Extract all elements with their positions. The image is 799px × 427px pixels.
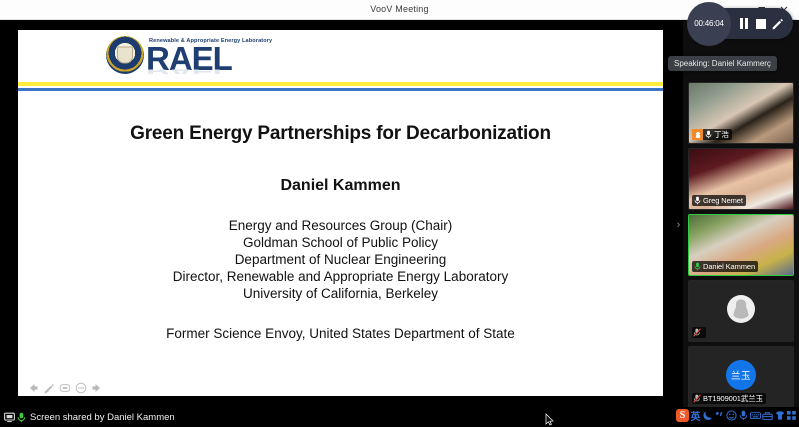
affiliation-line: Energy and Resources Group (Chair) — [18, 217, 663, 234]
emoji-icon[interactable] — [726, 408, 737, 422]
recording-timer: 00:46:04 — [687, 2, 731, 46]
toolbox-icon[interactable] — [762, 408, 773, 422]
participant-tile[interactable] — [688, 280, 794, 342]
window-titlebar: VooV Meeting — [0, 0, 799, 20]
affiliation-line: Goldman School of Public Policy — [18, 234, 663, 251]
annotate-button[interactable] — [769, 13, 786, 35]
mic-icon — [692, 261, 702, 272]
slide-body: Green Energy Partnerships for Decarboniz… — [18, 123, 663, 380]
participant-tile[interactable]: 丁浩 — [688, 82, 794, 144]
next-slide-icon[interactable] — [91, 382, 103, 394]
avatar: 兰玉 — [726, 360, 756, 390]
more-options-icon[interactable] — [75, 382, 87, 394]
pause-recording-button[interactable] — [735, 13, 752, 35]
stop-icon — [756, 19, 766, 29]
uc-berkeley-seal-icon — [106, 36, 144, 74]
affiliation-line: Department of Nuclear Engineering — [18, 251, 663, 268]
slide-header: Renewable & Appropriate Energy Laborator… — [18, 30, 663, 82]
collapse-panel-chevron-icon[interactable]: › — [674, 212, 683, 238]
stop-recording-button[interactable] — [752, 13, 769, 35]
participant-tile[interactable]: Greg Nemet — [688, 148, 794, 210]
host-icon — [692, 129, 703, 140]
divider-stripe-blue-top — [18, 88, 663, 91]
moon-icon[interactable] — [702, 408, 713, 422]
participant-label: BT1909001武兰玉 — [692, 393, 766, 404]
screen-share-icon — [4, 412, 15, 423]
ime-input-mode-button[interactable]: 英 — [690, 408, 701, 422]
pause-icon — [740, 18, 748, 29]
rael-logo: Renewable & Appropriate Energy Laborator… — [106, 36, 272, 86]
meeting-stage: Renewable & Appropriate Energy Laborator… — [0, 20, 799, 407]
share-status-text: Screen shared by Daniel Kammen — [28, 412, 175, 423]
affiliation-line: Director, Renewable and Appropriate Ener… — [18, 268, 663, 285]
display-settings-icon[interactable] — [59, 382, 71, 394]
rael-wordmark: Renewable & Appropriate Energy Laborator… — [146, 36, 272, 86]
previous-slide-icon[interactable] — [27, 382, 39, 394]
shared-screen-area: Renewable & Appropriate Energy Laborator… — [18, 30, 663, 396]
sogou-ime-logo-icon[interactable]: S — [676, 409, 689, 422]
participant-tile[interactable]: 兰玉 BT1909001武兰玉 — [688, 346, 794, 408]
participant-name: Greg Nemet — [702, 196, 743, 205]
system-tray: S 英 — [676, 408, 797, 422]
slide-title: Green Energy Partnerships for Decarboniz… — [18, 123, 663, 145]
participant-video-panel: Speaking: Daniel Kammerç › 丁浩 — [683, 20, 799, 407]
affiliation-line: University of California, Berkeley — [18, 285, 663, 302]
voov-meeting-window: VooV Meeting 00:46:04 — [0, 0, 799, 427]
pen-tool-icon[interactable] — [43, 382, 55, 394]
share-status-group: Screen shared by Daniel Kammen — [0, 412, 175, 423]
mic-icon — [692, 195, 702, 206]
apps-icon[interactable] — [786, 408, 797, 422]
mouse-cursor — [545, 413, 554, 426]
window-title: VooV Meeting — [0, 4, 799, 14]
mic-icon[interactable] — [738, 408, 749, 422]
comma-icon[interactable] — [714, 408, 725, 422]
presentation-toolbar — [18, 380, 663, 396]
participant-label: Daniel Kammen — [692, 261, 758, 272]
participant-name: Daniel Kammen — [702, 262, 755, 271]
slide-envoy-line: Former Science Envoy, United States Depa… — [18, 326, 663, 341]
slide-author: Daniel Kammen — [18, 177, 663, 195]
speaking-indicator: Speaking: Daniel Kammerç — [668, 56, 777, 71]
presentation-slide: Renewable & Appropriate Energy Laborator… — [18, 30, 663, 380]
presentation-toolbar-icons — [18, 382, 103, 394]
recording-controls: 00:46:04 — [694, 8, 793, 39]
rael-acronym-reflection: RAEL — [146, 69, 272, 74]
mic-icon — [17, 412, 26, 423]
pencil-icon — [771, 17, 784, 30]
skin-icon[interactable] — [774, 408, 785, 422]
slide-affiliations: Energy and Resources Group (Chair) Goldm… — [18, 217, 663, 302]
keyboard-icon[interactable] — [750, 408, 761, 422]
participant-name: 丁浩 — [713, 129, 729, 140]
mic-icon — [703, 129, 713, 140]
participant-name: BT1909001武兰玉 — [702, 393, 763, 404]
participant-label: Greg Nemet — [692, 195, 746, 206]
mic-muted-icon — [692, 327, 702, 338]
avatar — [727, 295, 755, 323]
participant-label: 丁浩 — [692, 129, 732, 140]
participant-label — [692, 327, 706, 338]
mic-muted-icon — [692, 393, 702, 404]
participant-tile-active-speaker[interactable]: Daniel Kammen — [688, 214, 794, 276]
